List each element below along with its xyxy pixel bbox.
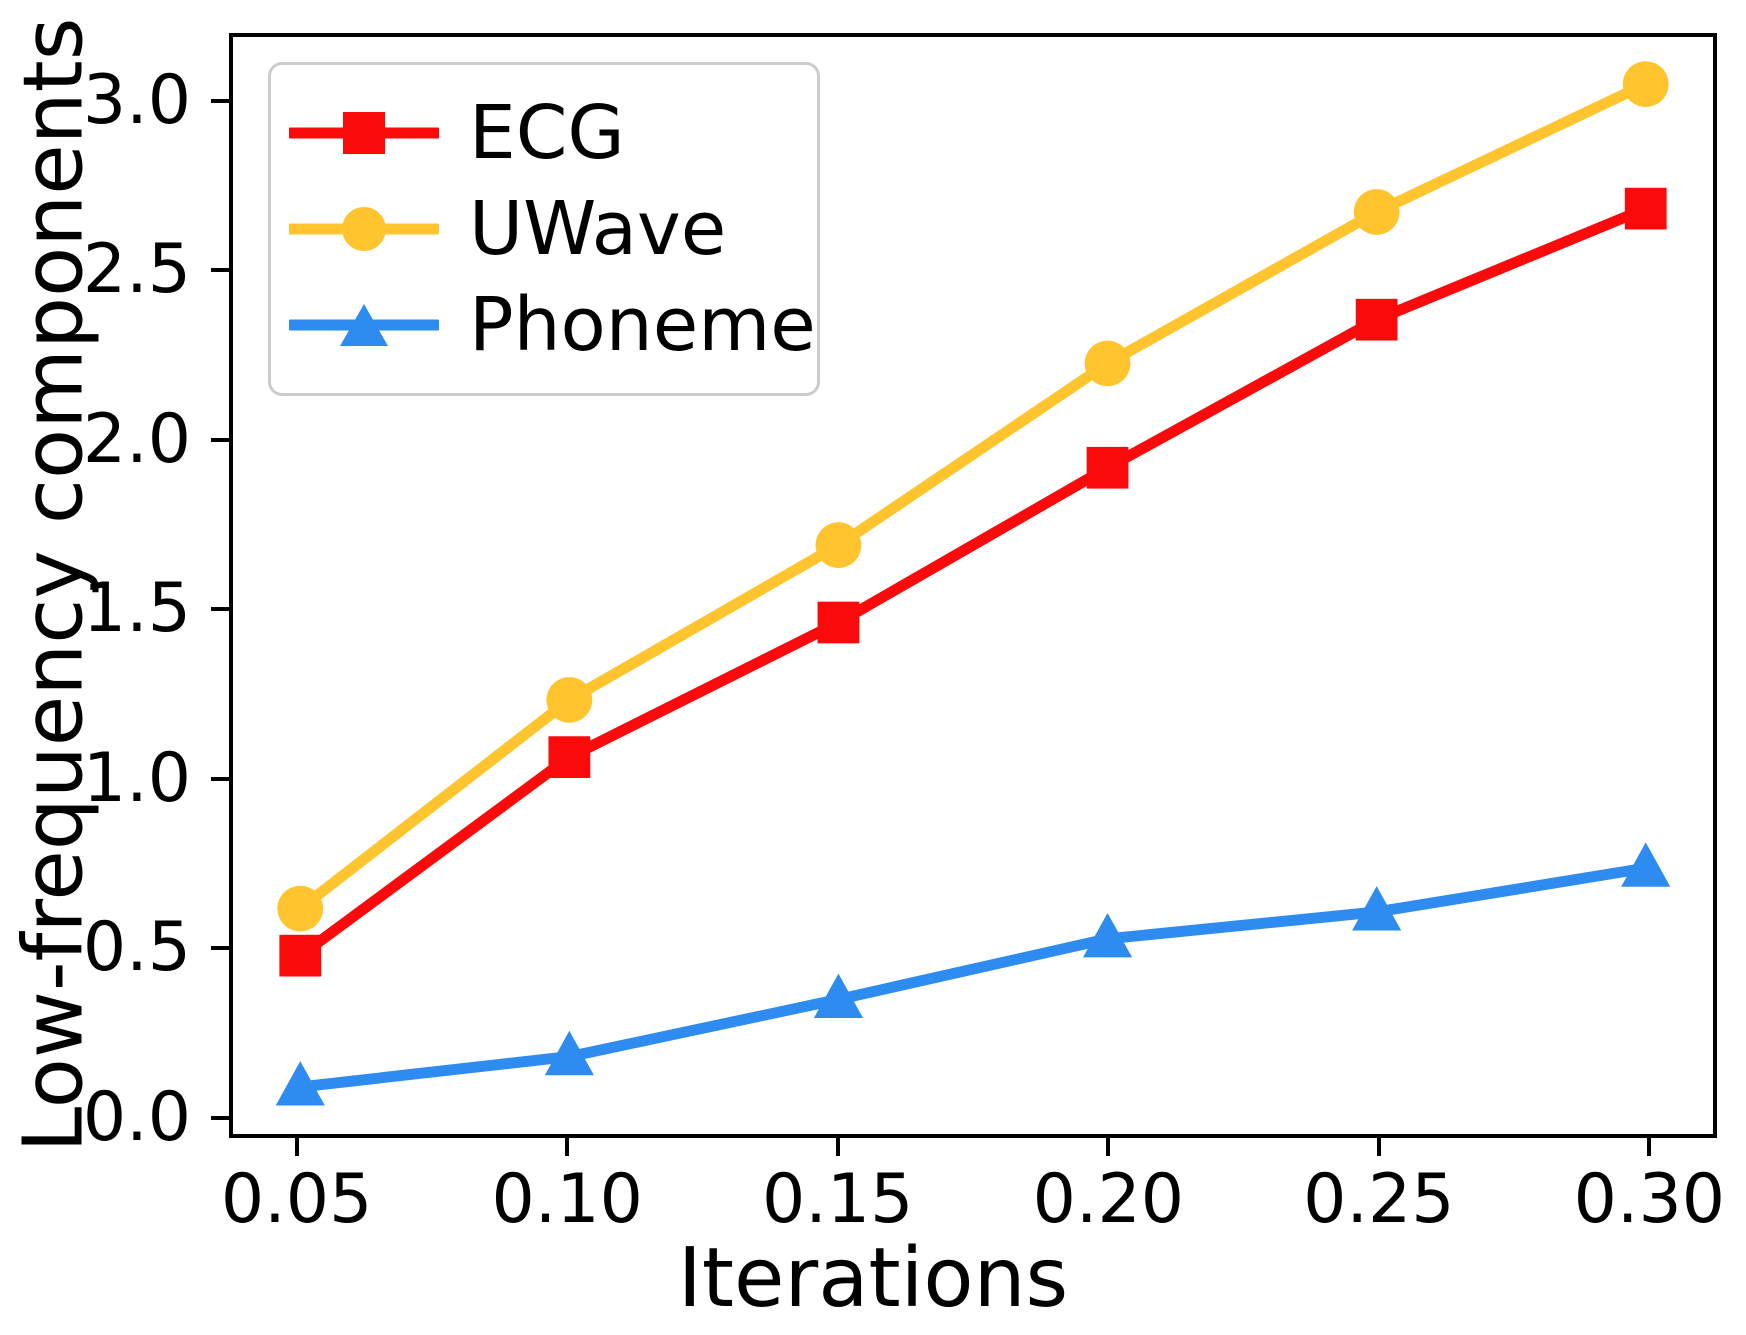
y-tick-mark bbox=[211, 607, 229, 611]
legend-label-uwave: UWave bbox=[439, 192, 726, 266]
data-point-square bbox=[818, 602, 860, 644]
y-tick-label: 2.5 bbox=[11, 236, 191, 304]
y-tick-mark bbox=[211, 268, 229, 272]
data-point-circle bbox=[546, 677, 592, 723]
x-tick-mark bbox=[1377, 1138, 1381, 1156]
chart-figure: Low-frequency components 0.00.51.01.52.0… bbox=[0, 0, 1746, 1335]
legend-label-phoneme: Phoneme bbox=[439, 288, 816, 362]
y-tick-label: 2.0 bbox=[11, 406, 191, 474]
data-point-square bbox=[1625, 188, 1667, 230]
chart-legend: ECG UWave Phoneme bbox=[268, 62, 820, 396]
legend-swatch-ecg bbox=[289, 108, 439, 158]
y-tick-label: 1.5 bbox=[11, 575, 191, 643]
y-tick-label: 3.0 bbox=[11, 67, 191, 135]
data-point-circle bbox=[1623, 61, 1669, 107]
y-tick-mark bbox=[211, 777, 229, 781]
x-tick-mark bbox=[836, 1138, 840, 1156]
data-point-circle bbox=[1354, 189, 1400, 235]
x-tick-label: 0.30 bbox=[1499, 1166, 1746, 1234]
legend-label-ecg: ECG bbox=[439, 96, 625, 170]
x-tick-label: 0.25 bbox=[1229, 1166, 1529, 1234]
y-tick-mark bbox=[211, 99, 229, 103]
legend-item-phoneme[interactable]: Phoneme bbox=[289, 277, 799, 373]
data-point-square bbox=[279, 935, 321, 977]
data-point-square bbox=[1087, 447, 1129, 489]
x-tick-label: 0.10 bbox=[417, 1166, 717, 1234]
circle-marker-icon bbox=[342, 207, 386, 251]
x-tick-mark bbox=[295, 1138, 299, 1156]
legend-swatch-phoneme bbox=[289, 300, 439, 350]
y-tick-mark bbox=[211, 1116, 229, 1120]
x-tick-mark bbox=[565, 1138, 569, 1156]
y-tick-label: 0.5 bbox=[11, 914, 191, 982]
y-tick-label: 1.0 bbox=[11, 745, 191, 813]
y-tick-mark bbox=[211, 438, 229, 442]
data-point-circle bbox=[816, 522, 862, 568]
data-point-triangle bbox=[1621, 842, 1670, 886]
legend-item-ecg[interactable]: ECG bbox=[289, 85, 799, 181]
legend-item-uwave[interactable]: UWave bbox=[289, 181, 799, 277]
x-tick-label: 0.05 bbox=[147, 1166, 447, 1234]
legend-swatch-uwave bbox=[289, 204, 439, 254]
square-marker-icon bbox=[343, 112, 385, 154]
data-point-circle bbox=[277, 886, 323, 932]
x-tick-label: 0.15 bbox=[688, 1166, 988, 1234]
x-tick-mark bbox=[1647, 1138, 1651, 1156]
x-axis-label: Iterations bbox=[0, 1238, 1746, 1320]
triangle-marker-icon bbox=[340, 304, 388, 346]
x-tick-label: 0.20 bbox=[958, 1166, 1258, 1234]
data-point-circle bbox=[1085, 341, 1131, 387]
series-phoneme bbox=[276, 842, 1671, 1105]
data-point-square bbox=[548, 736, 590, 778]
y-tick-mark bbox=[211, 946, 229, 950]
y-tick-label: 0.0 bbox=[11, 1084, 191, 1152]
series-line bbox=[300, 868, 1645, 1087]
data-point-square bbox=[1356, 299, 1398, 341]
x-tick-mark bbox=[1106, 1138, 1110, 1156]
